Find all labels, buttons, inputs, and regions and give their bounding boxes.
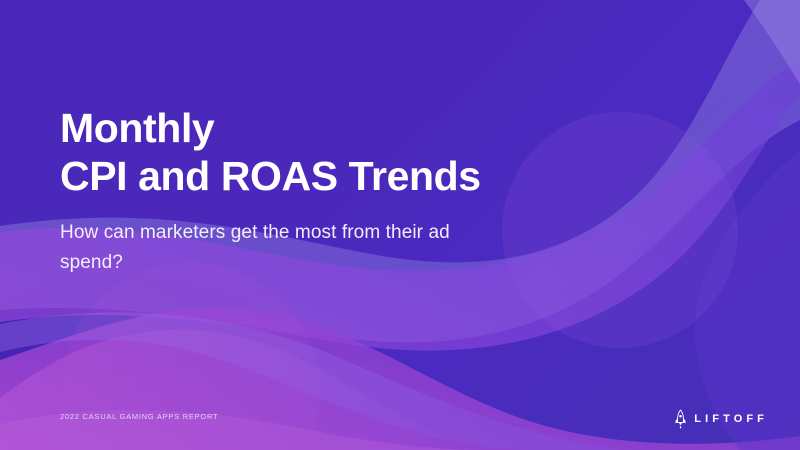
liftoff-logo: LIFTOFF <box>674 409 768 429</box>
page-subtitle: How can marketers get the most from thei… <box>60 218 480 278</box>
liftoff-wordmark: LIFTOFF <box>694 414 768 425</box>
title-slide: Monthly CPI and ROAS Trends How can mark… <box>0 0 800 450</box>
page-title: Monthly CPI and ROAS Trends <box>60 104 580 200</box>
rocket-icon <box>674 409 687 429</box>
slide-text-block: Monthly CPI and ROAS Trends How can mark… <box>60 104 580 278</box>
report-footer-label: 2022 CASUAL GAMING APPS REPORT <box>60 412 218 421</box>
